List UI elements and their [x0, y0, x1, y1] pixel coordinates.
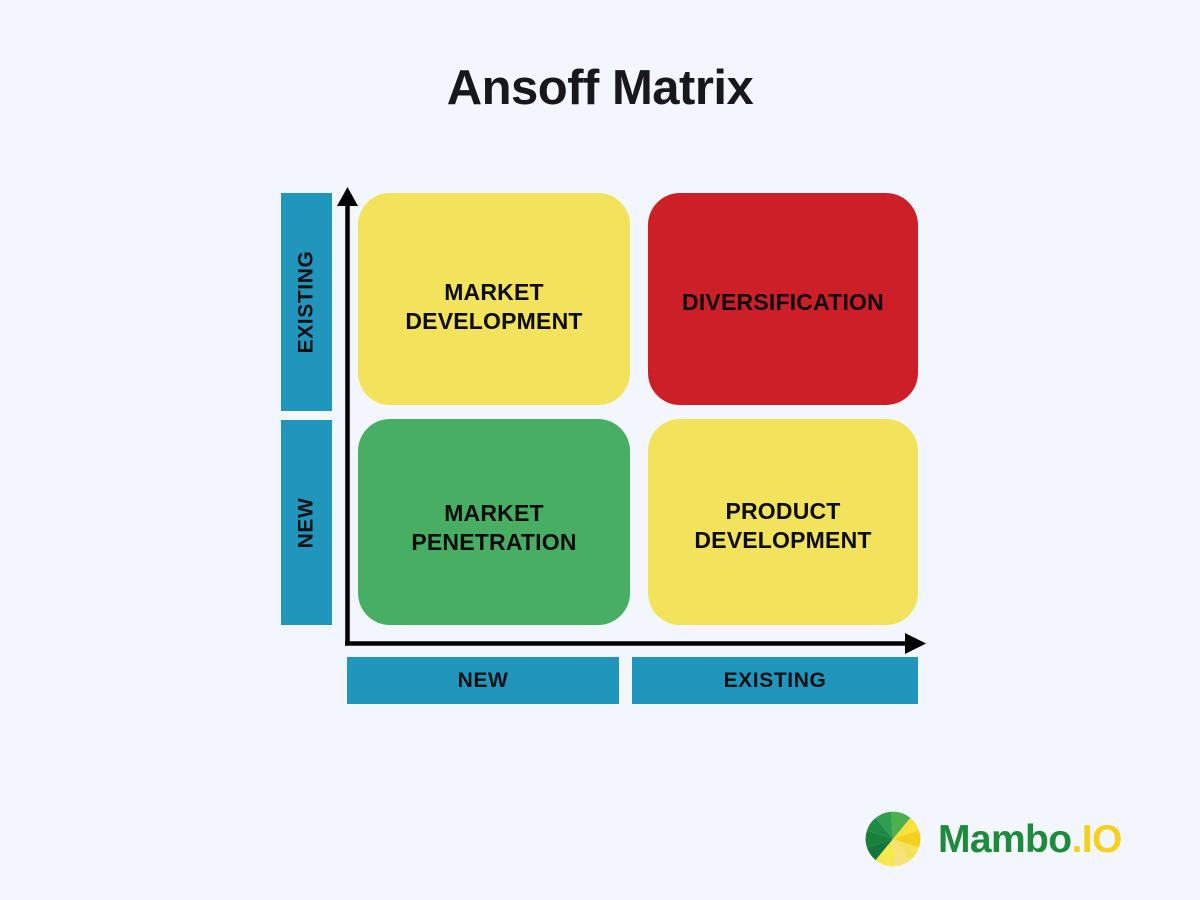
quadrant-diversification: DIVERSIFICATION	[648, 193, 918, 405]
x-axis-band-new-label: NEW	[458, 669, 509, 693]
y-axis-band-new-label: NEW	[294, 497, 318, 548]
y-axis-band-new: NEW	[281, 420, 332, 625]
pinwheel-logo-icon	[862, 808, 924, 870]
brand-name: Mambo	[938, 818, 1072, 861]
x-axis-band-new: NEW	[347, 657, 619, 704]
quadrant-market-penetration: MARKET PENETRATION	[358, 419, 630, 625]
arrow-right-icon	[905, 633, 926, 654]
brand-dot: .	[1072, 818, 1082, 861]
page-title: Ansoff Matrix	[0, 62, 1200, 116]
ansoff-matrix-figure: Ansoff Matrix EXISTING NEW MARKET DEVELO…	[0, 0, 1200, 900]
quadrant-market-penetration-label: MARKET PENETRATION	[411, 499, 576, 557]
y-axis-band-existing-label: EXISTING	[295, 251, 319, 354]
quadrant-market-development-label: MARKET DEVELOPMENT	[405, 278, 582, 336]
x-axis-band-existing-label: EXISTING	[724, 669, 827, 693]
y-axis-band-existing: EXISTING	[281, 193, 332, 411]
quadrant-product-development-label: PRODUCT DEVELOPMENT	[694, 497, 871, 555]
quadrant-diversification-label: DIVERSIFICATION	[682, 288, 884, 317]
quadrant-market-development: MARKET DEVELOPMENT	[358, 193, 630, 405]
brand-wordmark: Mambo.IO	[938, 820, 1122, 859]
brand-tld: IO	[1082, 818, 1122, 861]
x-axis-band-existing: EXISTING	[632, 657, 918, 704]
brand-logo: Mambo.IO	[862, 808, 1122, 870]
quadrant-product-development: PRODUCT DEVELOPMENT	[648, 419, 918, 625]
arrow-up-icon	[337, 187, 358, 206]
